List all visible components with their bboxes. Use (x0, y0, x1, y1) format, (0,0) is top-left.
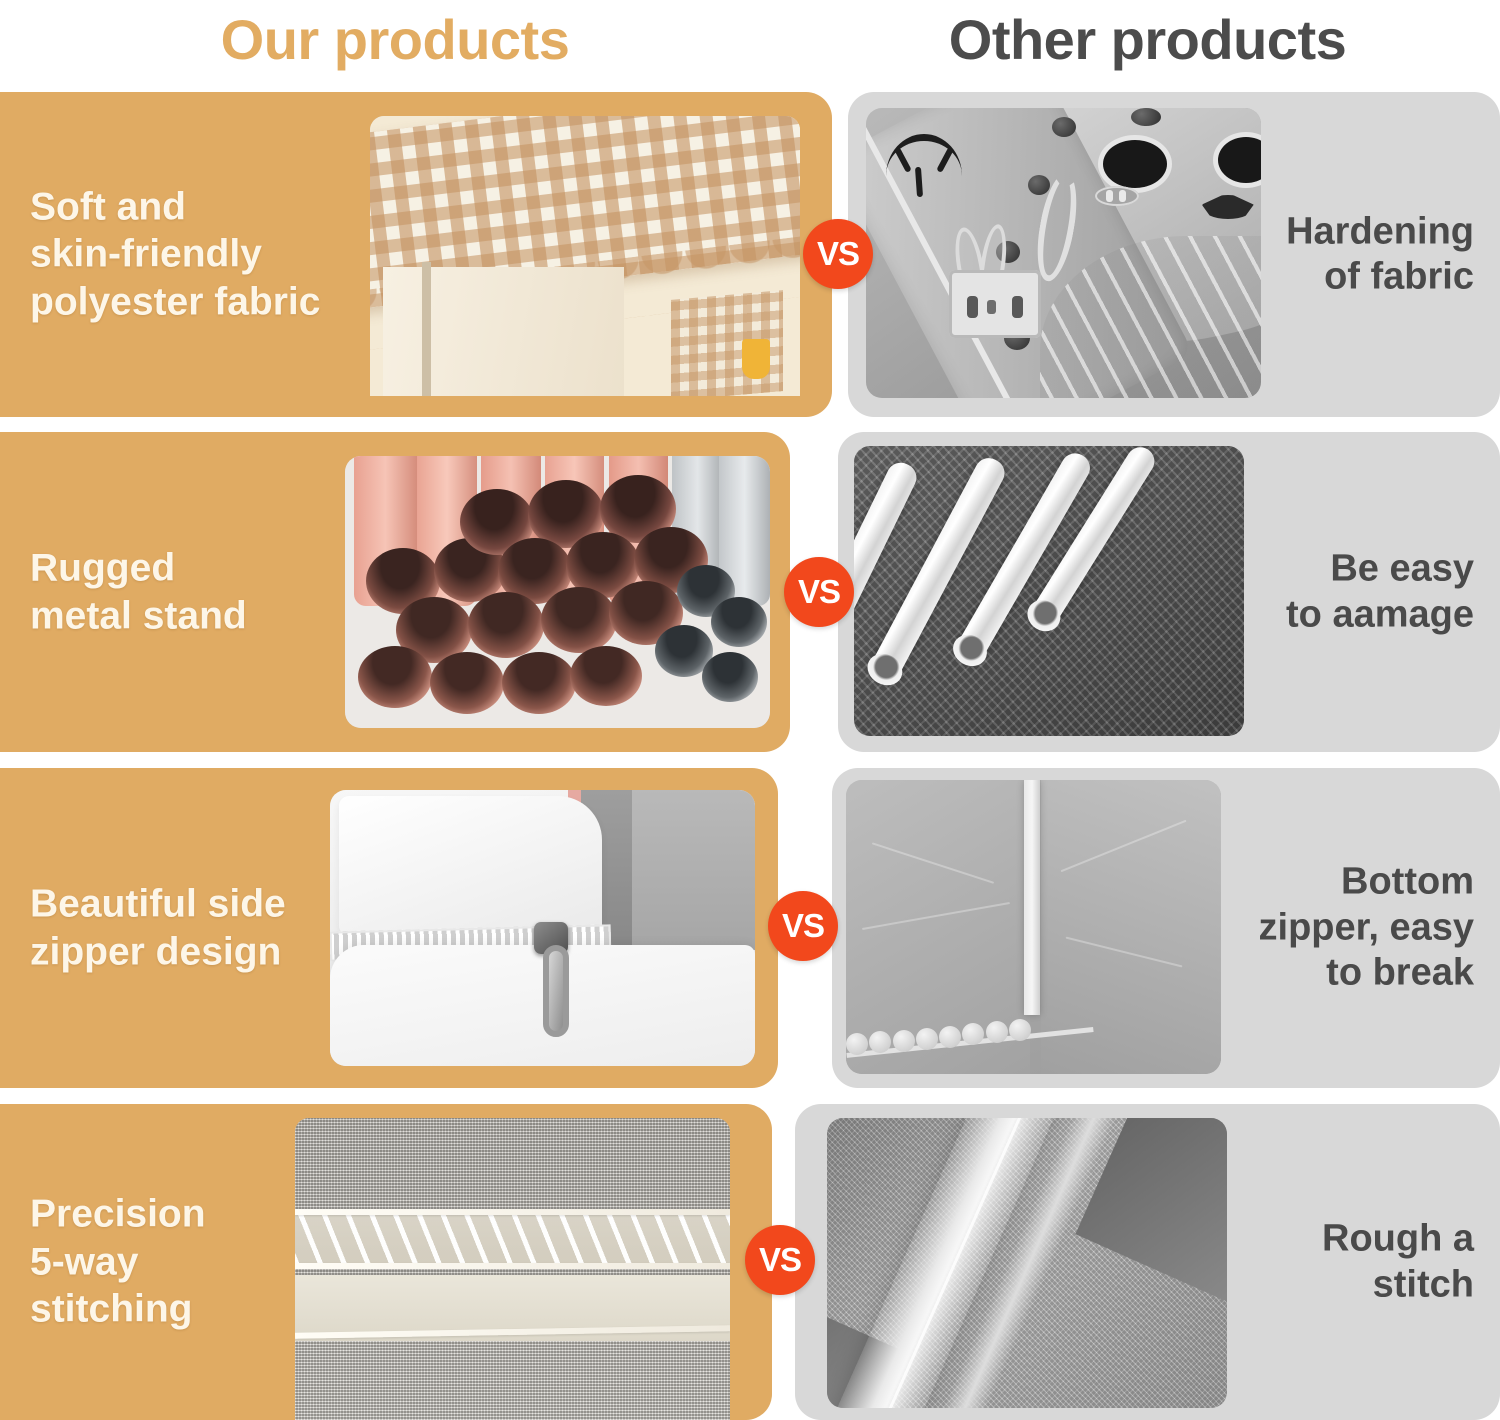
pink-metal-tubes-art (345, 456, 770, 728)
other-photo-clear-tubes (854, 446, 1244, 736)
vs-badge-zipper: VS (768, 891, 838, 961)
product-comparison-infographic: Our products Other products Soft and ski… (0, 0, 1500, 1420)
gingham-canopy-art (370, 116, 800, 396)
comparison-row-stand: Rugged metal stand (0, 432, 1500, 752)
clear-plastic-tubes-art (854, 446, 1244, 736)
other-label-stand: Be easy to aamage (1286, 546, 1474, 637)
other-panel-stitching: Rough a stitch (795, 1104, 1500, 1420)
other-label-zipper: Bottom zipper, easy to break (1259, 860, 1474, 997)
comparison-row-zipper: Beautiful side zipper design (0, 768, 1500, 1088)
our-panel-stand: Rugged metal stand (0, 432, 790, 752)
other-panel-zipper: Bottom zipper, easy to break (832, 768, 1500, 1088)
our-label-stitching: Precision 5-way stitching (30, 1191, 206, 1334)
our-label-fabric: Soft and skin-friendly polyester fabric (30, 183, 320, 326)
comparison-row-fabric: Soft and skin-friendly polyester fabric (0, 92, 1500, 417)
our-panel-fabric: Soft and skin-friendly polyester fabric (0, 92, 832, 417)
other-photo-rough-stitch (827, 1118, 1227, 1408)
our-label-zipper: Beautiful side zipper design (30, 880, 286, 975)
other-photo-bunny-hamper (866, 108, 1261, 398)
other-label-fabric: Hardening of fabric (1286, 209, 1474, 300)
our-panel-stitching: Precision 5-way stitching (0, 1104, 772, 1420)
our-panel-zipper: Beautiful side zipper design (0, 768, 778, 1088)
our-products-heading: Our products (0, 0, 790, 78)
vs-badge-fabric: VS (803, 219, 873, 289)
our-label-stand: Rugged metal stand (30, 544, 247, 639)
our-photo-precision-stitching (295, 1118, 730, 1420)
white-side-zipper-art (330, 790, 755, 1066)
gray-bottom-zipper-art (846, 780, 1221, 1074)
our-photo-metal-tubes (345, 456, 770, 728)
precision-zigzag-stitching-art (295, 1118, 730, 1420)
vs-badge-stitching: VS (745, 1225, 815, 1295)
our-photo-side-zipper (330, 790, 755, 1066)
comparison-row-stitching: Precision 5-way stitching (0, 1104, 1500, 1420)
bunny-hamper-art (866, 108, 1261, 398)
other-products-heading: Other products (795, 0, 1500, 78)
comparison-headings: Our products Other products (0, 0, 1500, 78)
other-label-stitching: Rough a stitch (1322, 1216, 1474, 1307)
our-photo-gingham-canopy (370, 116, 800, 396)
other-photo-bottom-zipper (846, 780, 1221, 1074)
other-panel-fabric: Hardening of fabric (848, 92, 1500, 417)
rough-stitch-fabric-art (827, 1118, 1227, 1408)
vs-badge-stand: VS (784, 557, 854, 627)
other-panel-stand: Be easy to aamage (838, 432, 1500, 752)
